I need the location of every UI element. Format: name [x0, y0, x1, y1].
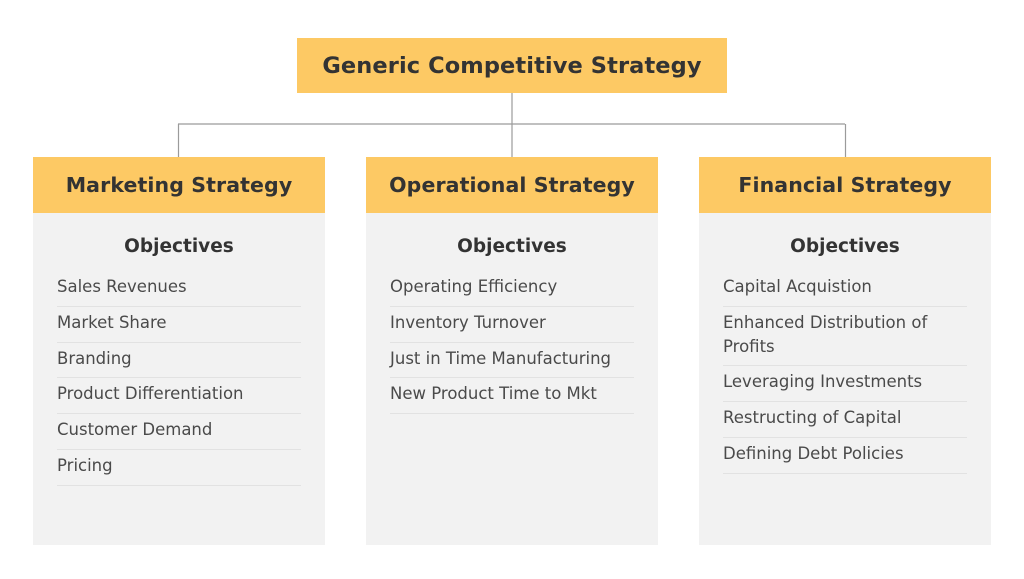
column-body-operational-strategy: Objectives Operating Efficiency Inventor…	[366, 213, 658, 545]
objectives-list-marketing: Sales Revenues Market Share Branding Pro…	[57, 271, 301, 486]
list-item[interactable]: Inventory Turnover	[390, 307, 634, 343]
strategy-columns: Marketing Strategy Objectives Sales Reve…	[33, 157, 991, 545]
objectives-title: Objectives	[390, 236, 634, 257]
column-body-financial-strategy: Objectives Capital Acquistion Enhanced D…	[699, 213, 991, 545]
column-header-marketing-strategy[interactable]: Marketing Strategy	[33, 157, 325, 213]
list-item[interactable]: Market Share	[57, 307, 301, 343]
list-item[interactable]: Customer Demand	[57, 414, 301, 450]
list-item[interactable]: New Product Time to Mkt	[390, 378, 634, 414]
root-node-generic-competitive-strategy[interactable]: Generic Competitive Strategy	[297, 38, 727, 93]
list-item[interactable]: Enhanced Distribution of Profits	[723, 307, 967, 367]
list-item[interactable]: Defining Debt Policies	[723, 438, 967, 474]
column-header-label: Marketing Strategy	[66, 173, 293, 197]
objectives-title: Objectives	[57, 236, 301, 257]
objectives-list-operational: Operating Efficiency Inventory Turnover …	[390, 271, 634, 414]
column-header-operational-strategy[interactable]: Operational Strategy	[366, 157, 658, 213]
column-header-financial-strategy[interactable]: Financial Strategy	[699, 157, 991, 213]
column-header-label: Financial Strategy	[738, 173, 951, 197]
list-item[interactable]: Just in Time Manufacturing	[390, 343, 634, 379]
root-node-label: Generic Competitive Strategy	[322, 53, 701, 79]
column-header-label: Operational Strategy	[389, 173, 635, 197]
org-chart-canvas: Generic Competitive Strategy Marketing S…	[0, 0, 1024, 579]
list-item[interactable]: Operating Efficiency	[390, 271, 634, 307]
list-item[interactable]: Capital Acquistion	[723, 271, 967, 307]
list-item[interactable]: Sales Revenues	[57, 271, 301, 307]
list-item[interactable]: Product Differentiation	[57, 378, 301, 414]
list-item[interactable]: Leveraging Investments	[723, 366, 967, 402]
column-operational-strategy[interactable]: Operational Strategy Objectives Operatin…	[366, 157, 658, 545]
column-body-marketing-strategy: Objectives Sales Revenues Market Share B…	[33, 213, 325, 545]
list-item[interactable]: Pricing	[57, 450, 301, 486]
column-financial-strategy[interactable]: Financial Strategy Objectives Capital Ac…	[699, 157, 991, 545]
column-marketing-strategy[interactable]: Marketing Strategy Objectives Sales Reve…	[33, 157, 325, 545]
objectives-title: Objectives	[723, 236, 967, 257]
list-item[interactable]: Branding	[57, 343, 301, 379]
list-item[interactable]: Restructing of Capital	[723, 402, 967, 438]
objectives-list-financial: Capital Acquistion Enhanced Distribution…	[723, 271, 967, 474]
